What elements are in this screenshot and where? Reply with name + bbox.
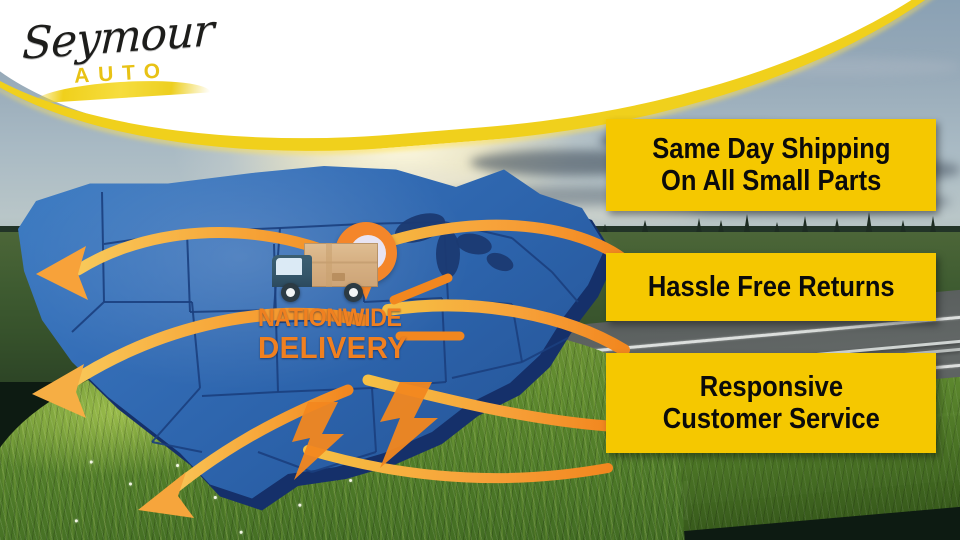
callout-line: Hassle Free Returns xyxy=(648,271,895,303)
callout-line: Same Day Shipping xyxy=(652,133,890,165)
truck-window xyxy=(276,258,302,275)
truck-wheel xyxy=(344,283,363,302)
caption-line-2: DELIVERY xyxy=(258,333,448,363)
delivery-truck-icon xyxy=(268,243,380,305)
callout-same-day-shipping[interactable]: Same Day Shipping On All Small Parts xyxy=(606,119,936,211)
callout-line: Responsive xyxy=(699,371,842,403)
truck-wheel xyxy=(281,283,300,302)
brand-script-name: Seymour xyxy=(21,5,214,70)
brand-logo[interactable]: Seymour AUTO xyxy=(14,12,229,100)
promo-banner: Seymour AUTO xyxy=(0,0,960,540)
callout-line: On All Small Parts xyxy=(661,165,881,197)
wildflower xyxy=(240,531,243,534)
callout-responsive-customer-service[interactable]: Responsive Customer Service xyxy=(606,353,936,453)
callout-line: Customer Service xyxy=(662,403,879,435)
callout-hassle-free-returns[interactable]: Hassle Free Returns xyxy=(606,253,936,321)
caption-line-1: NATIONWIDE xyxy=(258,306,444,331)
truck-box-label xyxy=(332,273,345,281)
nationwide-delivery-caption: NATIONWIDE DELIVERY xyxy=(258,306,458,363)
